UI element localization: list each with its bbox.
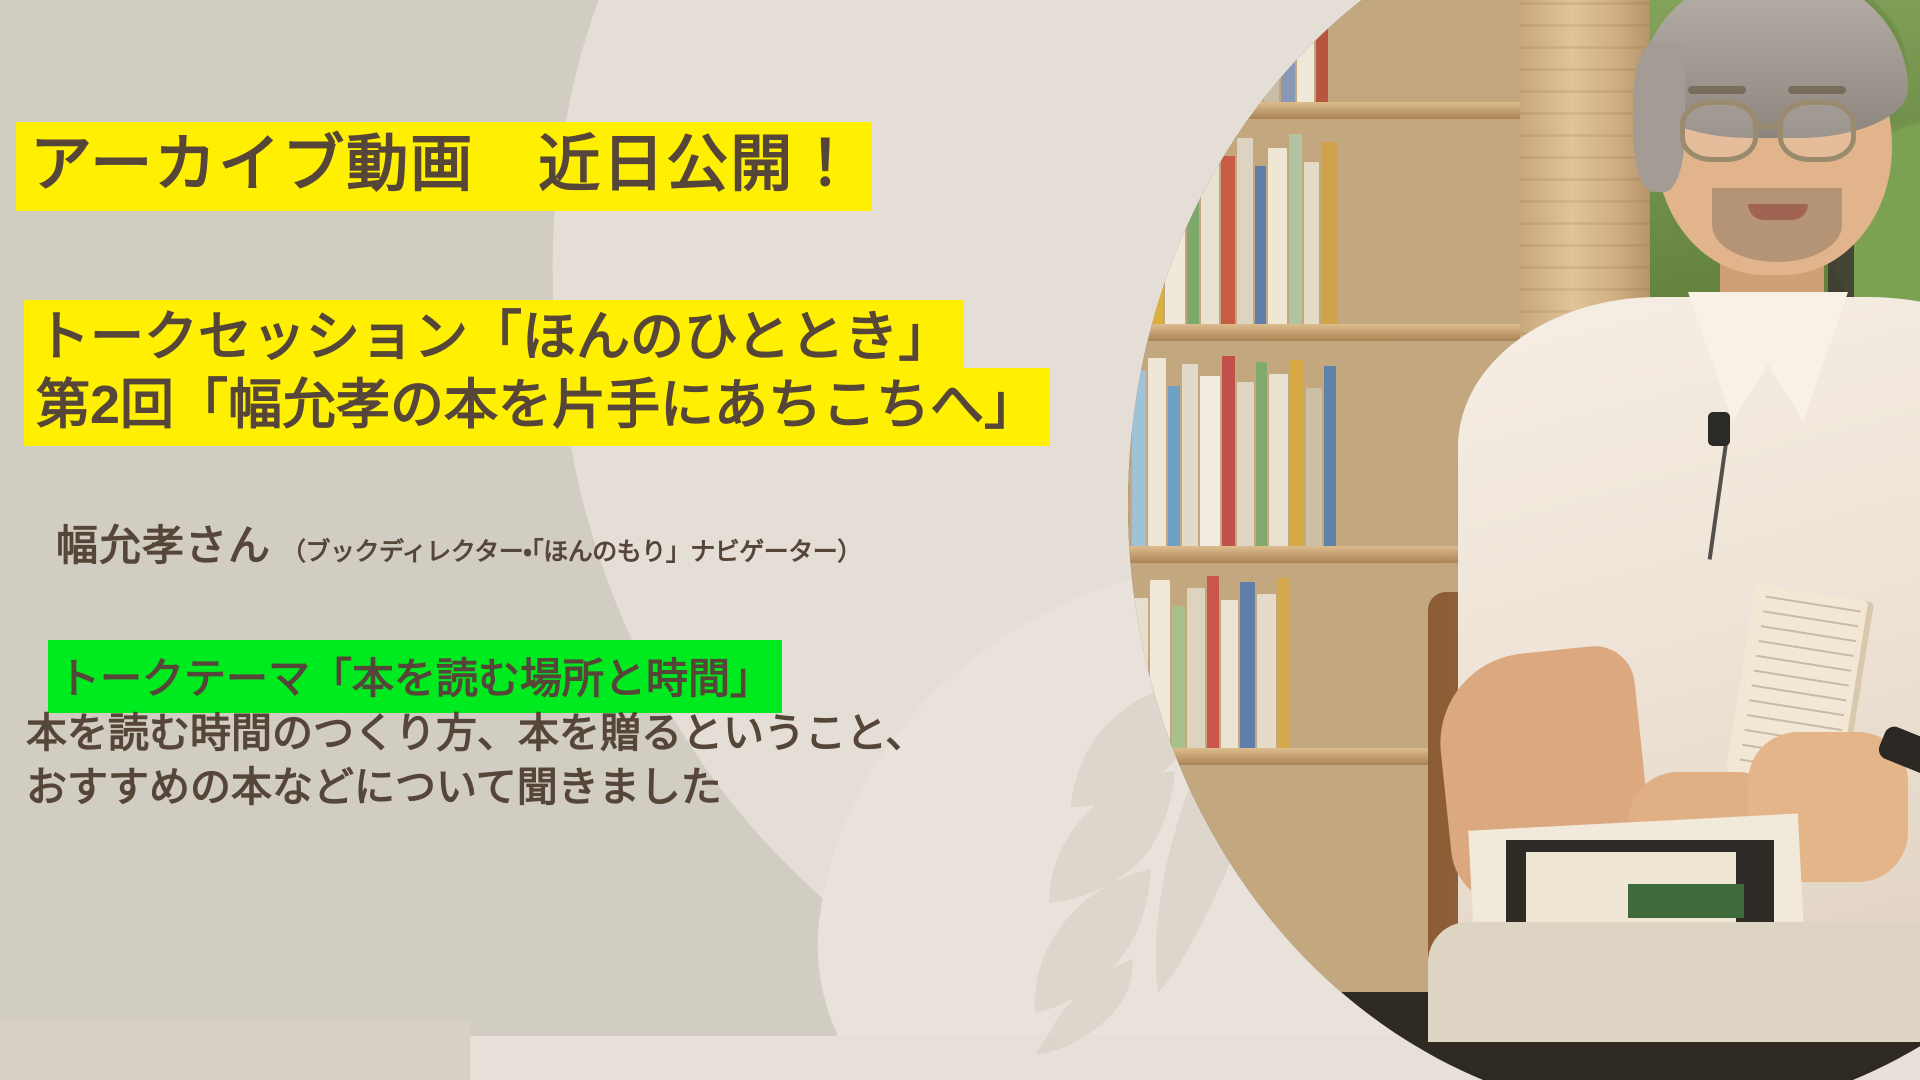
photo-glasses-left bbox=[1680, 100, 1758, 162]
speaker-photo bbox=[1128, 0, 1920, 1080]
session-title-line1: トークセッション「ほんのひととき」 bbox=[24, 300, 964, 378]
background-bottom-left-strip bbox=[0, 1020, 470, 1080]
photo-glasses-right bbox=[1778, 100, 1856, 162]
photo-content bbox=[1128, 0, 1920, 1080]
slide-canvas: アーカイブ動画 近日公開！ トークセッション「ほんのひととき」 第2回「幅允孝の… bbox=[0, 0, 1920, 1080]
speaker-role: （ブックディレクター・「ほんのもり」ナビゲーター） bbox=[281, 532, 862, 568]
description-line1: 本を読む時間のつくり方、本を贈るということ、 bbox=[26, 706, 926, 760]
description-block: 本を読む時間のつくり方、本を贈るということ、 おすすめの本などについて聞きました bbox=[26, 706, 926, 814]
archive-title-banner: アーカイブ動画 近日公開！ bbox=[16, 122, 872, 211]
speaker-block: 幅允孝さん （ブックディレクター・「ほんのもり」ナビゲーター） bbox=[56, 512, 862, 573]
talk-theme-label: トークテーマ「本を読む場所と時間」 bbox=[48, 640, 782, 713]
session-title-line2: 第2回「幅允孝の本を片手にあちこちへ」 bbox=[24, 368, 1050, 446]
speaker-name: 幅允孝さん bbox=[56, 512, 271, 573]
description-line2: おすすめの本などについて聞きました bbox=[26, 760, 926, 814]
